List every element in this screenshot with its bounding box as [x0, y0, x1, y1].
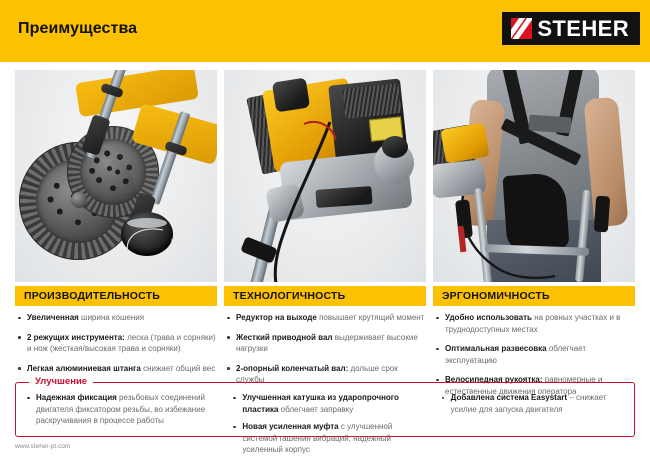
feature-column-performance: ПРОИЗВОДИТЕЛЬНОСТЬ Увеличенная ширина ко… [15, 70, 217, 405]
bullet-list-performance: Увеличенная ширина кошения 2 режущих инс… [15, 312, 217, 374]
bullet-item: Жесткий приводной вал выдерживает высоки… [226, 332, 426, 355]
bullet-item: Новая усиленная муфта с улучшенной систе… [232, 421, 425, 456]
product-photo-operator [433, 70, 635, 282]
control-cable-icon [443, 190, 563, 282]
product-photo-cutting-tools [15, 70, 217, 282]
feature-column-technology: ТЕХНОЛОГИЧНОСТЬ Редуктор на выходе повыш… [224, 70, 426, 405]
feature-columns: ПРОИЗВОДИТЕЛЬНОСТЬ Увеличенная ширина ко… [15, 70, 635, 405]
improvement-label: Улучшение [29, 376, 93, 387]
page-title: Преимущества [18, 20, 137, 38]
steher-slash-mark-icon [511, 18, 532, 39]
steher-logo: STEHER [502, 12, 640, 45]
logo-wordmark: STEHER [537, 18, 629, 40]
section-heading-ergonomics: ЭРГОНОМИЧНОСТЬ [433, 286, 635, 306]
bullet-item: Надежная фиксация резьбовых соединений д… [26, 392, 217, 427]
bullet-list-technology: Редуктор на выходе повышает крутящий мом… [224, 312, 426, 386]
bullet-item: Легкая алюминиевая штанга снижает общий … [17, 363, 217, 375]
bullet-item: Улучшенная катушка из ударопрочного плас… [232, 392, 425, 415]
section-heading-performance: ПРОИЗВОДИТЕЛЬНОСТЬ [15, 286, 217, 306]
trimmer-line-icon [111, 200, 217, 282]
bullet-item: Редуктор на выходе повышает крутящий мом… [226, 312, 426, 324]
improvement-panel: Улучшение Надежная фиксация резьбовых со… [15, 382, 635, 437]
footer-url[interactable]: www.steher-pt.com [15, 443, 70, 450]
bullet-item: Увеличенная ширина кошения [17, 312, 217, 324]
feature-column-ergonomics: ЭРГОНОМИЧНОСТЬ Удобно использовать на ро… [433, 70, 635, 405]
ignition-wire-icon [302, 116, 352, 152]
bullet-item: Удобно использовать на ровных участках и… [435, 312, 635, 335]
improvement-column-ergonomics: Добавлена система Easystart – снижает ус… [433, 392, 634, 462]
improvement-column-performance: Надежная фиксация резьбовых соединений д… [16, 392, 217, 462]
bullet-item: 2 режущих инструмента: леска (трава и со… [17, 332, 217, 355]
product-photo-engine [224, 70, 426, 282]
page-header: Преимущества STEHER [0, 0, 650, 62]
bullet-item: Добавлена система Easystart – снижает ус… [441, 392, 634, 415]
improvement-column-technology: Улучшенная катушка из ударопрочного плас… [224, 392, 425, 462]
section-heading-technology: ТЕХНОЛОГИЧНОСТЬ [224, 286, 426, 306]
bullet-item: Оптимальная развесовка облегчает эксплуа… [435, 343, 635, 366]
